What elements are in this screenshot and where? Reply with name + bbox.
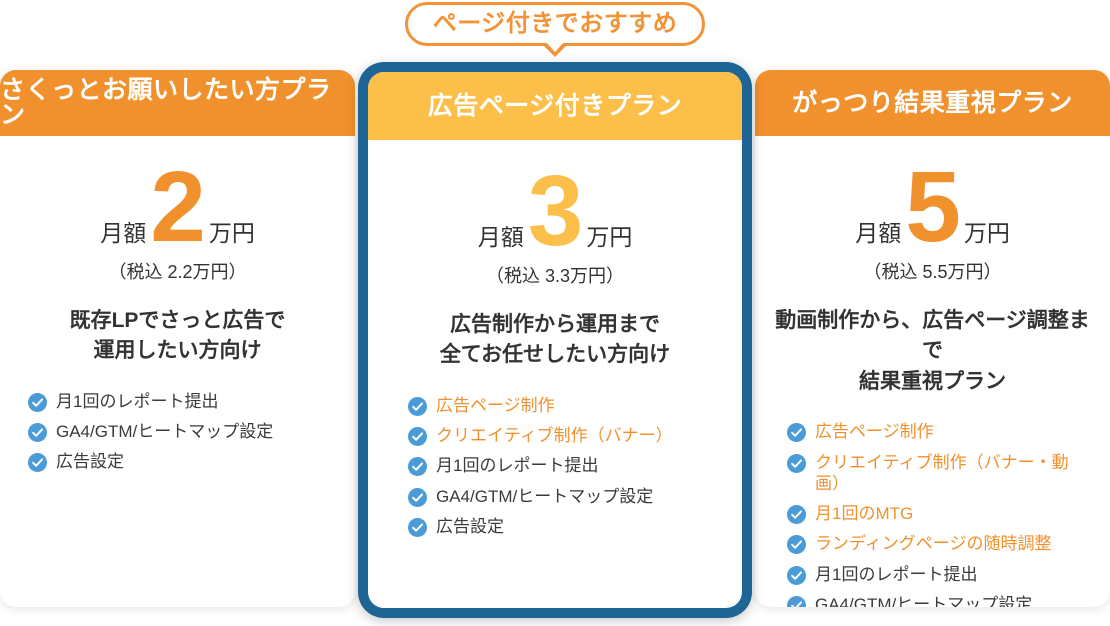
- feature-label: 広告ページ制作: [436, 395, 555, 416]
- list-item: クリエイティブ制作（バナー・動画）: [787, 452, 1094, 495]
- feature-list: 広告ページ制作 クリエイティブ制作（バナー・動画） 月1回のMTG: [771, 421, 1094, 607]
- list-item: GA4/GTM/ヒートマップ設定: [408, 486, 726, 507]
- feature-label: 月1回のレポート提出: [56, 391, 218, 412]
- list-item: 広告設定: [408, 516, 726, 537]
- price-label: 月額: [100, 222, 146, 245]
- card-subtitle: 既存LPでさっと広告で 運用したい方向け: [16, 306, 339, 367]
- feature-label: 月1回のレポート提出: [436, 455, 598, 476]
- price-row: 月額 5 万円: [771, 164, 1094, 250]
- feature-label: GA4/GTM/ヒートマップ設定: [56, 421, 273, 442]
- pricing-card-landing-page[interactable]: 広告ページ付きプラン 月額 3 万円 （税込 3.3万円） 広告制作から運用まで…: [368, 72, 742, 608]
- check-circle-icon: [787, 423, 806, 442]
- feature-list: 月1回のレポート提出 GA4/GTM/ヒートマップ設定 広告設定: [16, 391, 339, 473]
- price-amount: 5: [905, 164, 960, 250]
- list-item: 広告ページ制作: [408, 395, 726, 416]
- price-tax-note: （税込 3.3万円）: [384, 267, 726, 285]
- list-item: 月1回のMTG: [787, 503, 1094, 524]
- list-item: 月1回のレポート提出: [28, 391, 339, 412]
- check-circle-icon: [408, 457, 427, 476]
- card-header-title: がっつり結果重視プラン: [792, 91, 1073, 116]
- price-unit: 万円: [586, 226, 632, 249]
- recommended-card-ring: 広告ページ付きプラン 月額 3 万円 （税込 3.3万円） 広告制作から運用まで…: [358, 62, 752, 618]
- card-header-title: 広告ページ付きプラン: [428, 94, 683, 119]
- list-item: GA4/GTM/ヒートマップ設定: [787, 594, 1094, 607]
- price-unit: 万円: [964, 222, 1010, 245]
- price-amount: 2: [150, 164, 205, 250]
- feature-list: 広告ページ制作 クリエイティブ制作（バナー）: [384, 395, 726, 537]
- feature-label: ランディングページの随時調整: [815, 533, 1051, 554]
- feature-label: 月1回のレポート提出: [815, 564, 977, 585]
- card-subtitle: 動画制作から、広告ページ調整まで 結果重視プラン: [771, 306, 1094, 397]
- card-header: 広告ページ付きプラン: [368, 72, 742, 140]
- pricing-table: さくっとお願いしたい方プラン 月額 2 万円 （税込 2.2万円） 既存LPでさ…: [0, 0, 1110, 626]
- check-circle-icon: [787, 566, 806, 585]
- pricing-card-result-focused[interactable]: がっつり結果重視プラン 月額 5 万円 （税込 5.5万円） 動画制作から、広告…: [755, 70, 1110, 607]
- price-unit: 万円: [209, 222, 255, 245]
- feature-label: 広告設定: [436, 516, 504, 537]
- feature-label: GA4/GTM/ヒートマップ設定: [815, 594, 1032, 607]
- feature-label: GA4/GTM/ヒートマップ設定: [436, 486, 653, 507]
- card-header: がっつり結果重視プラン: [755, 70, 1110, 136]
- list-item: 広告ページ制作: [787, 421, 1094, 442]
- list-item: 月1回のレポート提出: [408, 455, 726, 476]
- check-circle-icon: [408, 518, 427, 537]
- check-circle-icon: [787, 505, 806, 524]
- check-circle-icon: [408, 488, 427, 507]
- list-item: GA4/GTM/ヒートマップ設定: [28, 421, 339, 442]
- feature-label: クリエイティブ制作（バナー）: [436, 425, 673, 446]
- feature-label: 広告ページ制作: [815, 421, 934, 442]
- card-body: 月額 2 万円 （税込 2.2万円） 既存LPでさっと広告で 運用したい方向け …: [0, 164, 355, 473]
- card-header-title: さくっとお願いしたい方プラン: [0, 78, 355, 128]
- price-tax-note: （税込 2.2万円）: [16, 263, 339, 281]
- feature-label: 広告設定: [56, 451, 124, 472]
- price-row: 月額 3 万円: [384, 168, 726, 254]
- price-tax-note: （税込 5.5万円）: [771, 263, 1094, 281]
- card-header: さくっとお願いしたい方プラン: [0, 70, 355, 136]
- list-item: クリエイティブ制作（バナー）: [408, 425, 726, 446]
- check-circle-icon: [787, 535, 806, 554]
- check-circle-icon: [408, 397, 427, 416]
- card-body: 月額 5 万円 （税込 5.5万円） 動画制作から、広告ページ調整まで 結果重視…: [755, 164, 1110, 607]
- card-body: 月額 3 万円 （税込 3.3万円） 広告制作から運用まで 全てお任せしたい方向…: [368, 168, 742, 537]
- recommended-badge-label: ページ付きでおすすめ: [433, 12, 678, 36]
- price-amount: 3: [528, 168, 583, 254]
- check-circle-icon: [28, 423, 47, 442]
- recommended-badge-pill: ページ付きでおすすめ: [405, 2, 705, 46]
- badge-tail-inner: [545, 41, 565, 52]
- check-circle-icon: [787, 596, 806, 607]
- card-subtitle: 広告制作から運用まで 全てお任せしたい方向け: [384, 310, 726, 371]
- check-circle-icon: [28, 393, 47, 412]
- price-label: 月額: [855, 222, 901, 245]
- pricing-card-basic[interactable]: さくっとお願いしたい方プラン 月額 2 万円 （税込 2.2万円） 既存LPでさ…: [0, 70, 355, 607]
- price-row: 月額 2 万円: [16, 164, 339, 250]
- check-circle-icon: [28, 453, 47, 472]
- list-item: 広告設定: [28, 451, 339, 472]
- check-circle-icon: [408, 427, 427, 446]
- recommended-badge: ページ付きでおすすめ: [405, 2, 705, 54]
- list-item: 月1回のレポート提出: [787, 564, 1094, 585]
- feature-label: 月1回のMTG: [815, 503, 913, 524]
- list-item: ランディングページの随時調整: [787, 533, 1094, 554]
- price-label: 月額: [478, 226, 524, 249]
- feature-label: クリエイティブ制作（バナー・動画）: [815, 452, 1094, 495]
- check-circle-icon: [787, 454, 806, 473]
